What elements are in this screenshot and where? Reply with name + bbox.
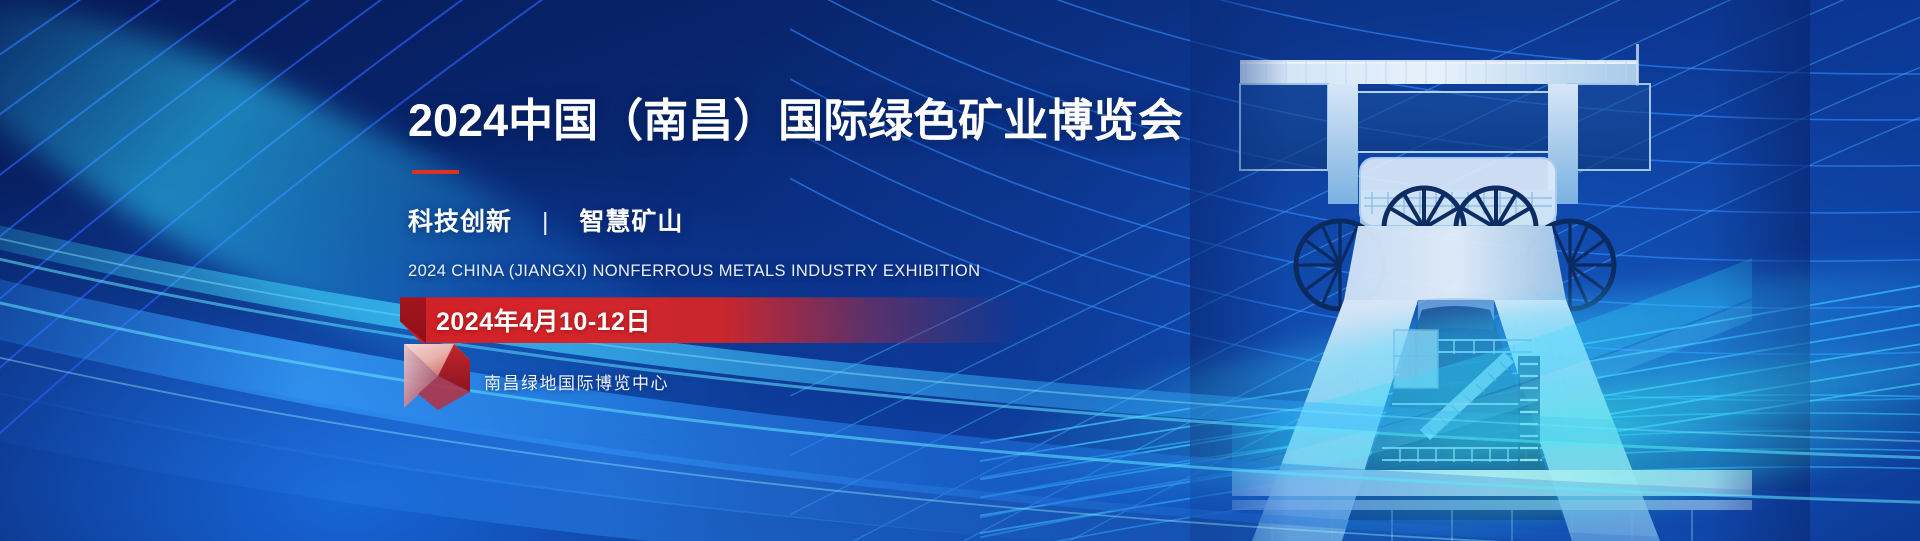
ribbon-fold-icon — [402, 342, 474, 412]
sub-title-divider: | — [542, 208, 550, 237]
banner-text-block: 2024中国（南昌）国际绿色矿业博览会 科技创新 | 智慧矿山 2024 CHI… — [408, 96, 1208, 394]
english-title: 2024 CHINA (JIANGXI) NONFERROUS METALS I… — [408, 262, 1208, 281]
date-ribbon-notch — [400, 297, 426, 343]
sub-title: 科技创新 | 智慧矿山 — [408, 202, 1208, 238]
title-underline-rule — [412, 170, 459, 174]
main-title: 2024中国（南昌）国际绿色矿业博览会 — [408, 96, 1208, 146]
sub-title-right: 智慧矿山 — [579, 208, 683, 236]
venue-text: 南昌绿地国际博览中心 — [484, 369, 1208, 394]
event-banner: 2024中国（南昌）国际绿色矿业博览会 科技创新 | 智慧矿山 2024 CHI… — [0, 0, 1920, 541]
date-text: 2024年4月10-12日 — [436, 297, 651, 343]
date-ribbon: 2024年4月10-12日 — [400, 297, 1020, 343]
sub-title-left: 科技创新 — [408, 208, 512, 236]
